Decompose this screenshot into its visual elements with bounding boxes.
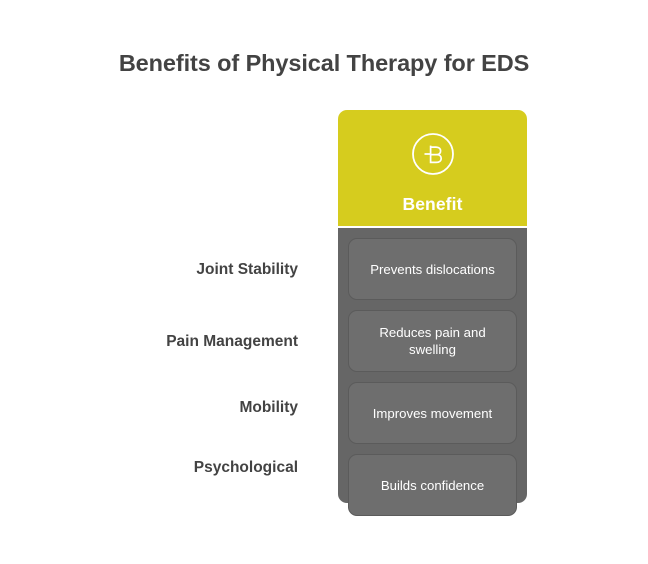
benefit-column-header: Benefit	[338, 110, 527, 226]
row-label-joint-stability: Joint Stability	[0, 261, 298, 279]
benefit-cell-text: Improves movement	[364, 405, 501, 422]
row-label-mobility: Mobility	[0, 399, 298, 417]
benefit-cell: Improves movement	[348, 382, 517, 444]
benefit-column-header-label: Benefit	[338, 194, 527, 215]
row-label-pain-management: Pain Management	[0, 333, 298, 351]
benefit-cell-text: Reduces pain and swelling	[349, 324, 516, 358]
page-title: Benefits of Physical Therapy for EDS	[0, 50, 648, 77]
benefit-column-body: Prevents dislocations Reduces pain and s…	[338, 228, 527, 503]
benefit-cell: Prevents dislocations	[348, 238, 517, 300]
benefit-column: Benefit Prevents dislocations Reduces pa…	[338, 110, 527, 226]
benefit-cell-text: Prevents dislocations	[361, 261, 504, 278]
benefit-cell-text: Builds confidence	[372, 477, 493, 494]
row-label-psychological: Psychological	[0, 459, 298, 477]
benefit-b-circle-icon	[338, 132, 527, 176]
benefit-cell: Reduces pain and swelling	[348, 310, 517, 372]
infographic-canvas: Benefits of Physical Therapy for EDS Ben…	[0, 0, 648, 564]
benefit-cell: Builds confidence	[348, 454, 517, 516]
